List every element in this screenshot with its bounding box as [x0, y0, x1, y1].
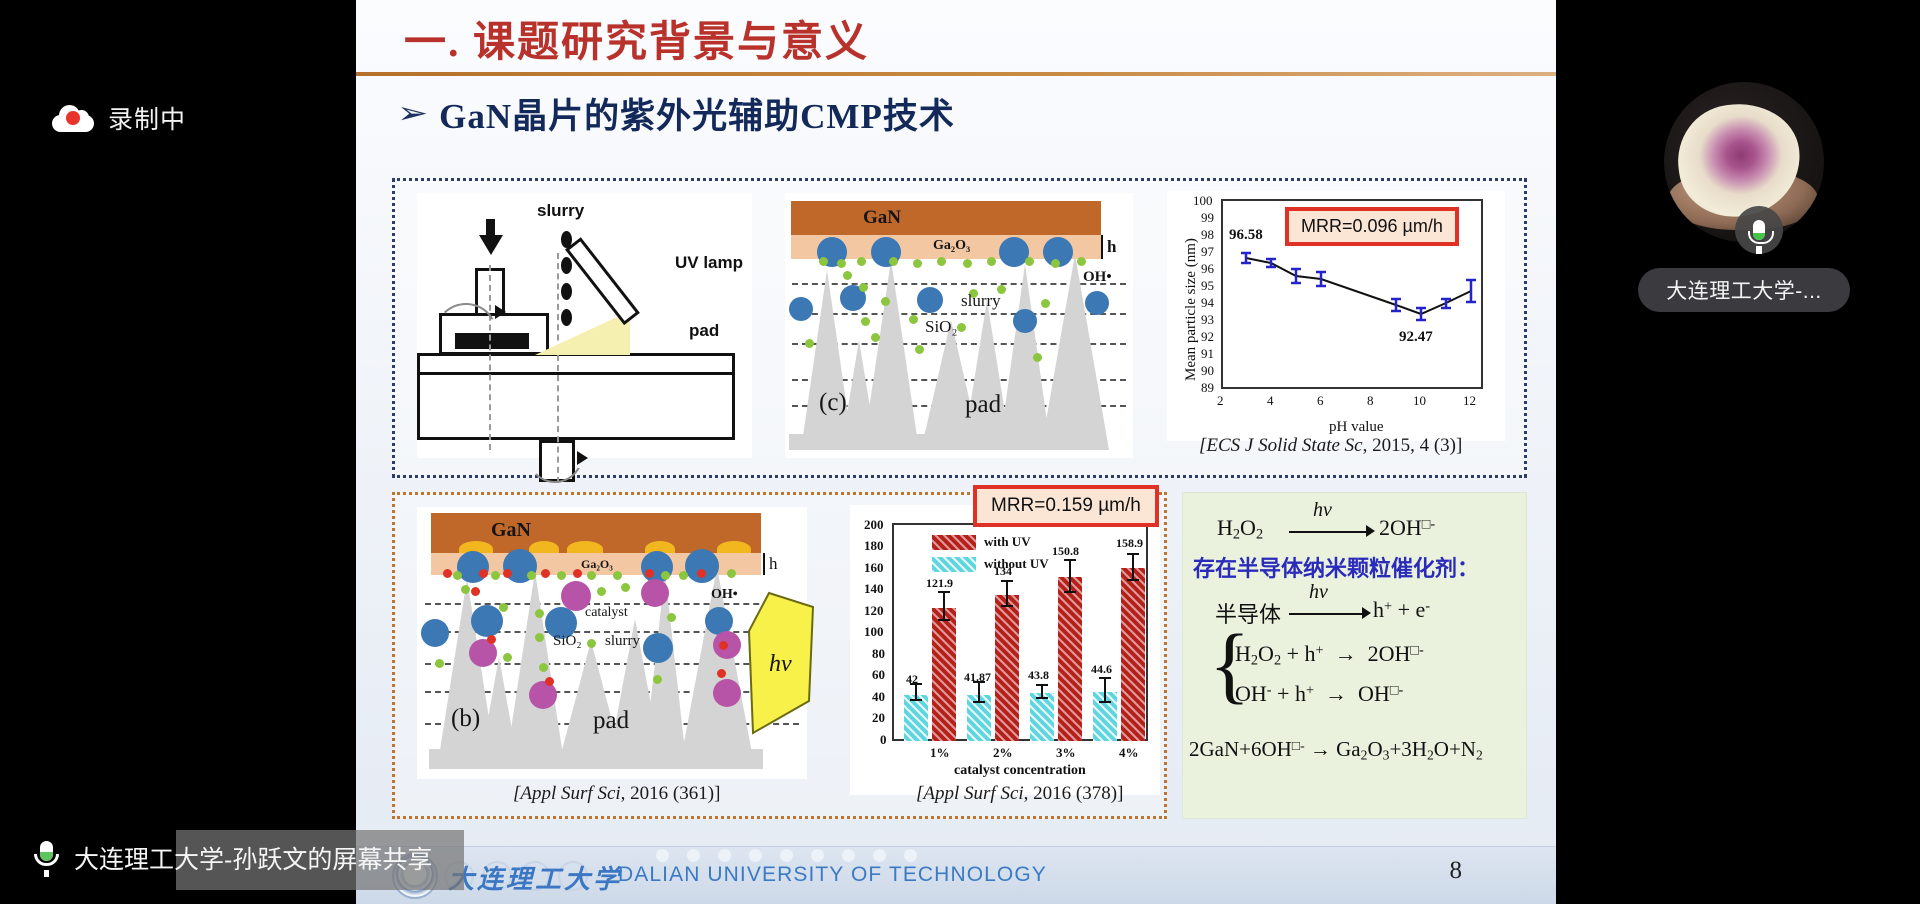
mrr-callout-top: MRR=0.096 µm/h: [1285, 207, 1459, 246]
bar-value: 43.8: [1028, 668, 1049, 683]
line-chart-caption: [ECS J Solid State Sc, 2015, 4 (3)]: [1199, 435, 1462, 457]
chem-eq-2-right: h+ + e-: [1373, 597, 1430, 623]
figure-cmp-label-pad: pad: [689, 321, 719, 341]
load-arrow-icon: [479, 235, 503, 255]
chem-note: 存在半导体纳米颗粒催化剂：: [1193, 551, 1479, 583]
bar-chart-xlabel: catalyst concentration: [954, 763, 1086, 779]
figure-b-pad-catalyst: GaN Ga₂O₃ h: [417, 507, 807, 779]
panel-top-figures: slurry UV lamp pad GaN Ga₂O₃ h: [392, 178, 1527, 478]
figure-c-label-gan: GaN: [863, 207, 901, 229]
figure-c-label-slurry: slurry: [961, 291, 1001, 311]
page-title: 一. 课题研究背景与意义: [404, 8, 869, 69]
slide-subtitle-row: ➢ GaN晶片的紫外光辅助CMP技术: [400, 88, 955, 139]
bar-chart-bars: 42 121.9 41.87 134: [894, 523, 1148, 741]
share-status: 大连理工大学-孙跃文的屏幕共享: [34, 840, 432, 876]
figure-b-label-gan: GaN: [491, 519, 531, 542]
figure-cmp-label-uv-lamp: UV lamp: [675, 253, 743, 273]
participant-name: 大连理工大学-...: [1638, 268, 1850, 312]
bar-value: 150.8: [1052, 544, 1079, 559]
figure-c-label-oh: OH•: [1083, 269, 1112, 286]
line-chart-particle-size: Mean particle size (nm) pH value 100 99 …: [1167, 191, 1505, 441]
bar-value: 44.6: [1091, 662, 1112, 677]
bar-value: 158.9: [1116, 536, 1143, 551]
footer-university-cn: 大连理工大学: [448, 859, 622, 896]
slide-page-number: 8: [1450, 857, 1463, 885]
bar-value: 134: [994, 564, 1012, 579]
chem-eq-2-hv: hv: [1309, 581, 1328, 604]
figure-cmp-label-slurry: slurry: [537, 201, 584, 221]
share-status-label: 大连理工大学-孙跃文的屏幕共享: [74, 840, 432, 876]
chem-eq-1-right: 2OH□-: [1379, 515, 1435, 541]
chem-eq-1: H2O2: [1217, 515, 1263, 544]
mrr-callout-bottom: MRR=0.159 µm/h: [973, 485, 1159, 527]
bar-chart-xtick: 3%: [1056, 745, 1076, 761]
line-chart-point-label-min: 92.47: [1399, 329, 1433, 346]
figure-b-caption: [Appl Surf Sci, 2016 (361)]: [513, 783, 720, 805]
chemistry-equations-panel: H2O2 hv 2OH□- 存在半导体纳米颗粒催化剂： 半导体 hv h+ + …: [1182, 492, 1527, 819]
line-chart-ylabel: Mean particle size (nm): [1183, 238, 1200, 381]
figure-c-pad-gan: GaN Ga₂O₃ h: [785, 193, 1133, 458]
figure-cmp-schematic: slurry UV lamp pad: [417, 193, 752, 458]
figure-b-tag: (b): [451, 705, 480, 733]
footer-university-en: DALIAN UNIVERSITY OF TECHNOLOGY: [618, 863, 1047, 887]
figure-b-label-catalyst: catalyst: [585, 605, 628, 621]
microphone-icon: [34, 841, 58, 875]
line-chart-xlabel: pH value: [1329, 419, 1384, 436]
bar-chart-xtick: 4%: [1119, 745, 1139, 761]
bar-chart-catalyst: 200 180 160 140 120 100 80 60 40 20 0 wi…: [850, 505, 1160, 795]
line-chart-point-label-max: 96.58: [1229, 227, 1263, 244]
bullet-arrow-icon: ➢: [397, 99, 428, 129]
slide-footer: 大连理工大学 DALIAN UNIVERSITY OF TECHNOLOGY 8: [356, 846, 1556, 904]
figure-b-label-hv: hv: [769, 651, 792, 678]
figure-b-label-sio2: SiO₂: [553, 633, 582, 650]
figure-b-label-pad: pad: [593, 707, 629, 735]
footer-decor-dots: [656, 849, 917, 862]
chem-eq-1-hv: hv: [1313, 499, 1332, 522]
chem-eq-5: 2GaN+6OH□- → Ga2O3+3H2O+N2: [1189, 737, 1483, 763]
title-divider: [356, 72, 1556, 76]
bar-value: 41.87: [964, 670, 991, 685]
figure-b-label-h: h: [769, 554, 778, 574]
bar-chart-xtick: 1%: [930, 745, 950, 761]
bar-chart-xtick: 2%: [993, 745, 1013, 761]
bar-value: 121.9: [926, 576, 953, 591]
meeting-screen-share-window: 录制中 一. 课题研究背景与意义 ➢ GaN晶片的紫外光辅助CMP技术: [0, 0, 1920, 904]
microphone-icon[interactable]: [1735, 206, 1783, 254]
figure-c-label-ga2o3: Ga₂O₃: [933, 238, 970, 254]
figure-b-label-slurry: slurry: [605, 633, 640, 650]
figure-b-label-ga2o3: Ga₂O₃: [581, 557, 613, 572]
bar-value: 42: [906, 672, 918, 687]
bar-chart-caption: [Appl Surf Sci, 2016 (378)]: [916, 783, 1123, 805]
figure-c-tag: (c): [819, 389, 847, 417]
slide-header: 一. 课题研究背景与意义: [356, 0, 1556, 78]
figure-c-label-sio2: SiO₂: [925, 317, 957, 337]
shared-slide: 一. 课题研究背景与意义 ➢ GaN晶片的紫外光辅助CMP技术: [356, 0, 1556, 904]
figure-c-label-pad: pad: [965, 391, 1001, 419]
chem-eq-3: H2O2 + h+ → 2OH□-: [1235, 641, 1424, 670]
slide-subtitle: GaN晶片的紫外光辅助CMP技术: [439, 88, 955, 139]
panel-bottom-figures: GaN Ga₂O₃ h: [392, 492, 1167, 819]
figure-b-label-oh: OH•: [711, 587, 738, 603]
status-bar: 大连理工大学-孙跃文的屏幕共享: [0, 0, 356, 904]
chem-eq-4: OH- + h+ → OH□-: [1235, 681, 1403, 707]
